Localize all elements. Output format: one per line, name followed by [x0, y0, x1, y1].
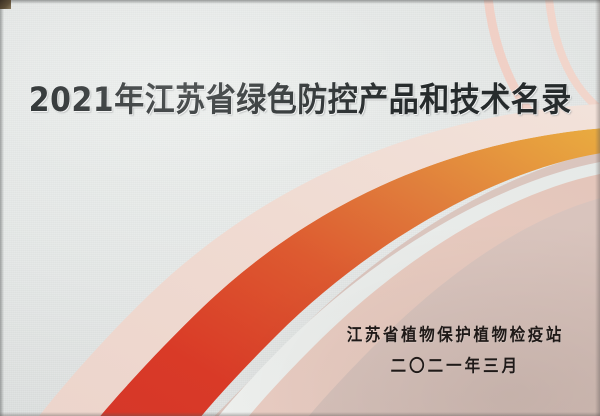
- issuer-organization: 江苏省植物保护植物检疫站: [347, 322, 564, 346]
- photo-edge-left: [0, 0, 4, 416]
- photo-edge-top: [0, 0, 600, 4]
- issuer-date: 二〇二一年三月: [347, 353, 564, 377]
- photo-edge-right: [595, 0, 600, 416]
- page-title: 2021年江苏省绿色防控产品和技术名录: [28, 72, 571, 121]
- book-cover: 2021年江苏省绿色防控产品和技术名录 江苏省植物保护植物检疫站 二〇二一年三月: [0, 0, 600, 416]
- photo-corner-notch: [0, 0, 11, 9]
- photo-edge-bottom: [0, 412, 600, 416]
- title-block: 2021年江苏省绿色防控产品和技术名录: [0, 72, 600, 116]
- issuer-block: 江苏省植物保护植物检疫站 二〇二一年三月: [347, 323, 564, 376]
